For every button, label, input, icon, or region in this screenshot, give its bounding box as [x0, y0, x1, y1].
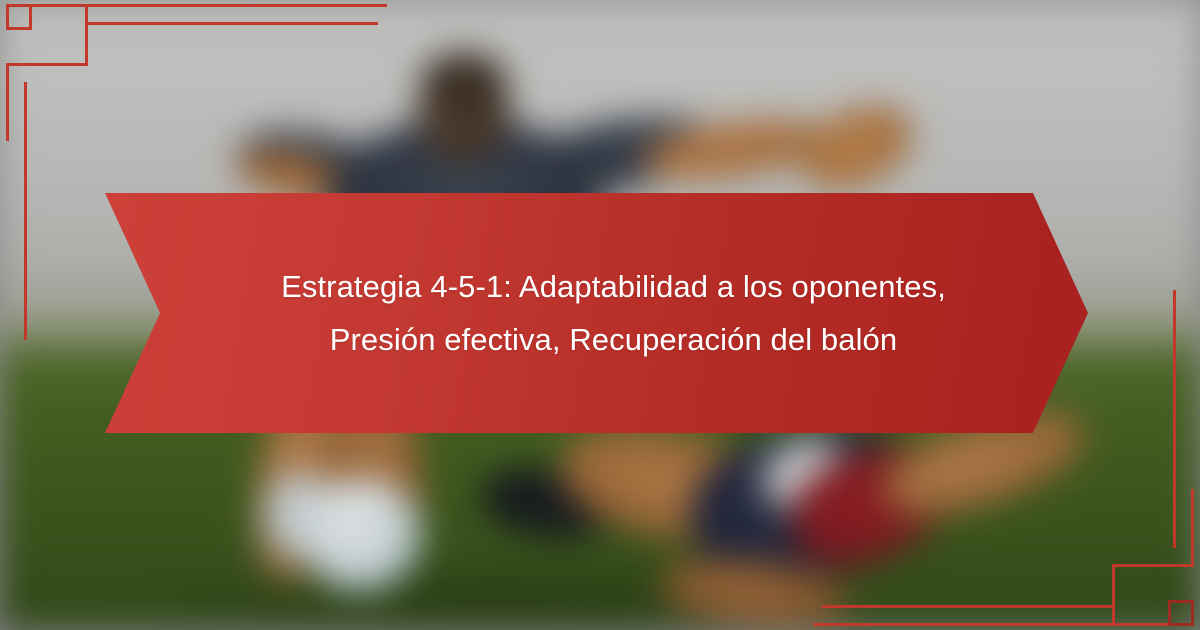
- headline-line-1: Estrategia 4-5-1: Adaptabilidad a los op…: [281, 269, 946, 304]
- player-hair-blob: [420, 52, 508, 114]
- headline-line-2: Presión efectiva, Recuperación del balón: [330, 322, 898, 357]
- soccer-ball-blob: [300, 478, 422, 592]
- headline-text-block: Estrategia 4-5-1: Adaptabilidad a los op…: [197, 260, 997, 367]
- headline-ribbon: Estrategia 4-5-1: Adaptabilidad a los op…: [105, 193, 1088, 433]
- social-card: Estrategia 4-5-1: Adaptabilidad a los op…: [0, 0, 1200, 630]
